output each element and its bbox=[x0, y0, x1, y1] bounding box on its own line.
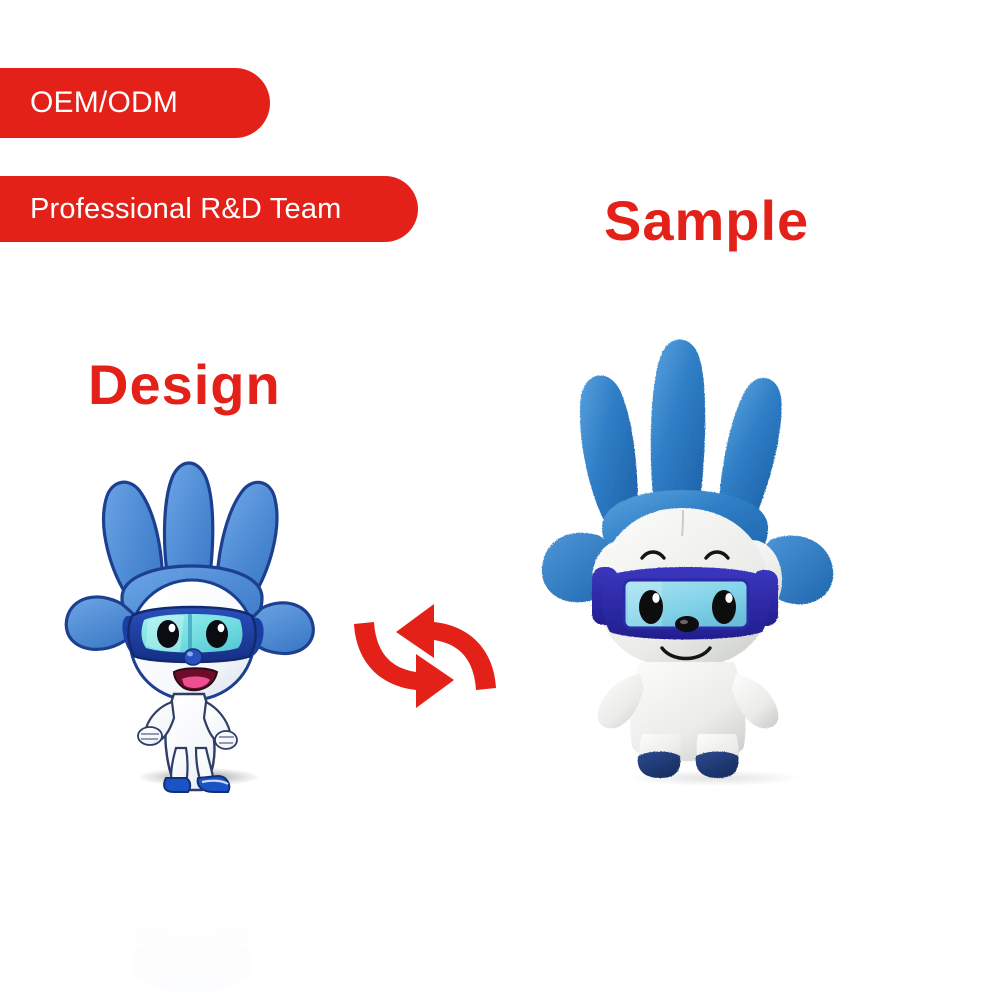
design-eye-left bbox=[157, 620, 179, 648]
design-mascot-svg bbox=[62, 448, 322, 793]
sample-head-seam bbox=[682, 510, 683, 536]
sample-eye-right-highlight bbox=[725, 593, 732, 603]
sample-reflection-svg bbox=[530, 784, 870, 1000]
sample-plush-photo bbox=[530, 322, 870, 782]
design-eye-left-highlight bbox=[169, 624, 176, 632]
design-shoe-right bbox=[198, 776, 230, 792]
sample-eye-left-highlight bbox=[652, 593, 659, 603]
exchange-arrows bbox=[348, 596, 508, 714]
design-nose bbox=[184, 649, 202, 665]
badge-oem-odm-label: OEM/ODM bbox=[30, 86, 178, 120]
sample-eye-left bbox=[639, 590, 663, 624]
design-hand-left bbox=[138, 727, 162, 745]
sample-nose bbox=[675, 616, 699, 632]
sample-plush-reflection bbox=[530, 784, 870, 1000]
badge-oem-odm: OEM/ODM bbox=[0, 68, 270, 138]
badge-rd-team: Professional R&D Team bbox=[0, 176, 418, 242]
design-shoe-left bbox=[164, 778, 190, 792]
design-eye-right bbox=[206, 620, 228, 648]
sample-foot-right bbox=[696, 752, 739, 779]
caption-design: Design bbox=[88, 352, 281, 417]
sample-eye-right bbox=[712, 590, 736, 624]
sample-plush-svg bbox=[530, 322, 870, 782]
sample-nose-highlight bbox=[680, 620, 688, 624]
design-lens-divider bbox=[188, 614, 192, 654]
exchange-arrows-svg bbox=[348, 596, 508, 714]
caption-sample: Sample bbox=[604, 188, 809, 253]
design-reflection-svg bbox=[62, 795, 322, 1000]
design-mascot-reflection bbox=[62, 795, 322, 1000]
design-nose-highlight bbox=[187, 652, 193, 657]
sample-foot-left bbox=[638, 752, 681, 779]
design-eye-right-highlight bbox=[218, 624, 225, 632]
design-mascot-illustration bbox=[62, 448, 322, 793]
badge-rd-team-label: Professional R&D Team bbox=[30, 193, 342, 226]
design-hand-right bbox=[215, 731, 237, 749]
product-banner: OEM/ODM Professional R&D Team Sample Des… bbox=[0, 0, 1000, 1000]
